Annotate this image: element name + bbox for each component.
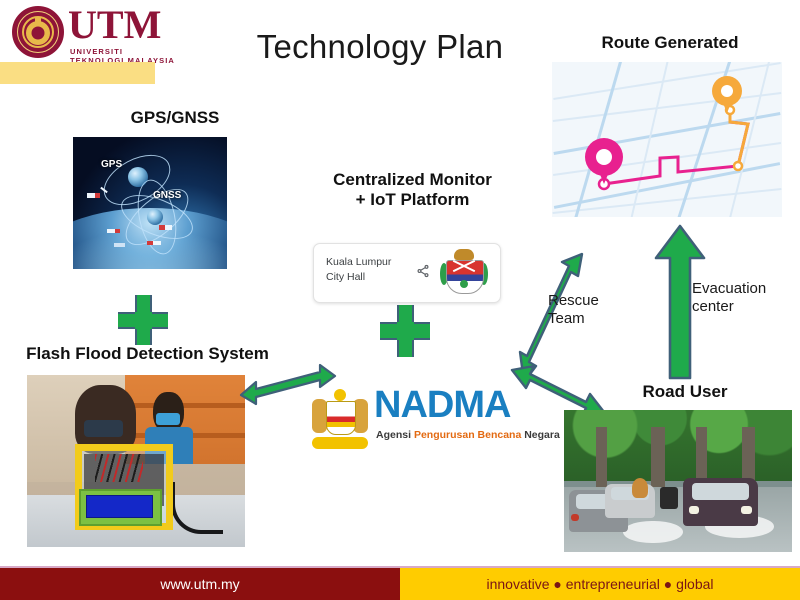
- map-pin-end: [712, 76, 742, 114]
- footer-right: innovative ● entrepreneurial ● global: [400, 568, 800, 600]
- slide-canvas: UTM UNIVERSITI TEKNOLOGI MALAYSIA Techno…: [0, 0, 800, 600]
- motorcyclist: [632, 478, 648, 498]
- map-pin-start: [585, 138, 623, 186]
- kl-city-hall-card[interactable]: Kuala Lumpur City Hall: [313, 243, 501, 303]
- share-icon[interactable]: [416, 264, 430, 278]
- plus-icon-1: [118, 295, 168, 345]
- monitor-label-line1: Centralized Monitor: [305, 170, 520, 190]
- nadma-wordmark: NADMA: [374, 385, 510, 425]
- footer-tagline-text: innovative ● entrepreneurial ● global: [400, 576, 800, 592]
- dbkl-coat-of-arms-icon: [440, 249, 488, 299]
- road-user-photo: [564, 410, 792, 552]
- page-title: Technology Plan: [220, 28, 540, 66]
- nadma-tagline-part1: Agensi: [376, 429, 414, 441]
- utm-logo: UTM UNIVERSITI TEKNOLOGI MALAYSIA: [8, 4, 178, 60]
- plus-icon-2: [380, 305, 430, 357]
- footer-left: www.utm.my: [0, 568, 400, 600]
- monitor-label-line2: + IoT Platform: [305, 190, 520, 210]
- motorcycle: [660, 487, 678, 510]
- malaysia-crest-icon: [310, 387, 370, 449]
- footer-bar: www.utm.my innovative ● entrepreneurial …: [0, 568, 800, 600]
- route-map-image: [552, 62, 782, 217]
- flood-detector-photo: [27, 375, 245, 547]
- nadma-logo: NADMA Agensi Pengurusan Bencana Negara: [310, 385, 510, 455]
- nadma-tagline-part2: Pengurusan Bencana: [414, 429, 524, 441]
- gps-satellite-image: GPS GNSS: [73, 137, 227, 269]
- nadma-tagline-part3: Negara: [524, 429, 560, 441]
- gps-block-label: GPS/GNSS: [60, 108, 290, 128]
- nadma-tagline: Agensi Pengurusan Bencana Negara: [376, 429, 560, 441]
- footer-website-text: www.utm.my: [0, 576, 400, 592]
- evacuation-line2: center: [692, 298, 797, 316]
- kl-card-text: Kuala Lumpur City Hall: [326, 255, 391, 285]
- road-user-label: Road User: [600, 382, 770, 402]
- utm-logo-wordmark: UTM: [68, 5, 161, 45]
- evacuation-line1: Evacuation: [692, 280, 797, 298]
- car-right: [683, 478, 758, 526]
- rescue-team-line1: Rescue: [548, 292, 633, 310]
- gps-image-label-gps: GPS: [101, 159, 122, 170]
- rescue-team-line2: Team: [548, 310, 633, 328]
- kl-card-line1: Kuala Lumpur: [326, 255, 391, 270]
- route-block-label: Route Generated: [545, 33, 795, 53]
- header-accent-band: [0, 62, 155, 84]
- monitor-block-label: Centralized Monitor + IoT Platform: [305, 170, 520, 211]
- kl-card-line2: City Hall: [326, 270, 391, 285]
- rescue-team-label: Rescue Team: [548, 292, 633, 328]
- utm-seal-icon: [12, 6, 64, 58]
- gps-image-label-gnss: GNSS: [153, 190, 181, 201]
- evacuation-center-label: Evacuation center: [692, 280, 797, 316]
